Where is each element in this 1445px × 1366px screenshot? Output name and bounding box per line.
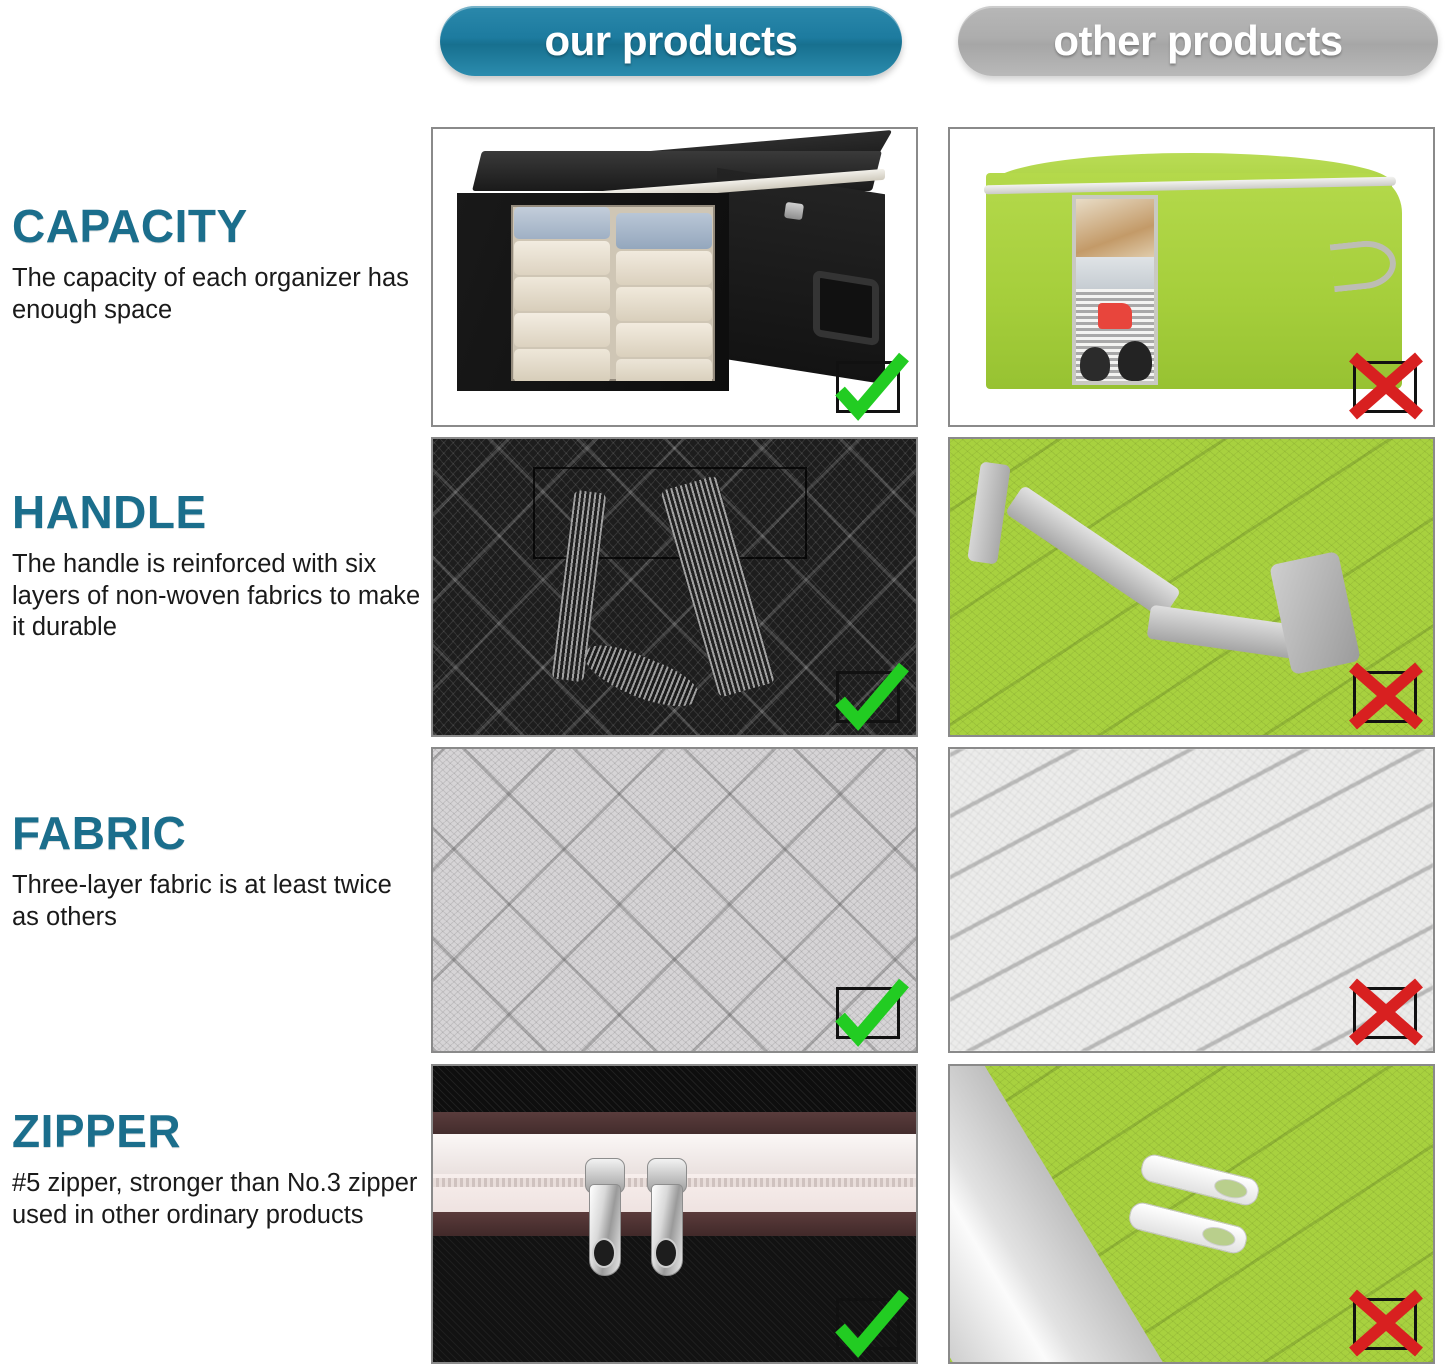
photo-our-fabric: [431, 747, 918, 1053]
feature-text-zipper: ZIPPER #5 zipper, stronger than No.3 zip…: [12, 1108, 422, 1231]
feature-text-handle: HANDLE The handle is reinforced with six…: [12, 489, 422, 644]
feature-description: Three-layer fabric is at least twice as …: [12, 870, 422, 933]
other-products-label: other products: [1053, 17, 1342, 65]
cross-icon: [1349, 665, 1427, 729]
cross-badge: [1349, 665, 1427, 729]
check-badge: [832, 665, 910, 729]
handle-strap: [967, 461, 1011, 564]
zipper-pull: [583, 1158, 625, 1276]
bag-clear-window: [511, 205, 715, 381]
our-products-pill: our products: [440, 6, 902, 76]
photo-other-handle: [948, 437, 1435, 737]
zipper-pull: [645, 1158, 687, 1276]
photo-our-zipper: [431, 1064, 918, 1364]
check-icon: [832, 355, 910, 419]
photo-other-zipper: [948, 1064, 1435, 1364]
our-products-label: our products: [545, 17, 798, 65]
check-icon: [832, 1292, 910, 1356]
check-icon: [832, 981, 910, 1045]
handle-strap-bottom: [578, 636, 704, 718]
photo-our-handle: [431, 437, 918, 737]
feature-title: FABRIC: [12, 810, 422, 856]
cross-badge: [1349, 981, 1427, 1045]
feature-description: The handle is reinforced with six layers…: [12, 549, 422, 644]
cross-badge: [1349, 355, 1427, 419]
feature-title: HANDLE: [12, 489, 422, 535]
check-badge: [832, 1292, 910, 1356]
cross-icon: [1349, 981, 1427, 1045]
check-icon: [832, 665, 910, 729]
feature-description: #5 zipper, stronger than No.3 zipper use…: [12, 1168, 422, 1231]
comparison-header: our products other products: [0, 0, 1445, 88]
other-products-pill: other products: [958, 6, 1438, 76]
check-badge: [832, 981, 910, 1045]
cross-icon: [1349, 355, 1427, 419]
zipper-pull: [1138, 1152, 1261, 1208]
bag-side-handle: [813, 270, 879, 346]
check-badge: [832, 355, 910, 419]
feature-text-fabric: FABRIC Three-layer fabric is at least tw…: [12, 810, 422, 933]
zipper-pull: [1126, 1200, 1249, 1256]
feature-title: ZIPPER: [12, 1108, 422, 1154]
cross-icon: [1349, 1292, 1427, 1356]
cross-badge: [1349, 1292, 1427, 1356]
photo-our-capacity: [431, 127, 918, 427]
handle-strap: [1005, 485, 1182, 619]
photo-other-capacity: [948, 127, 1435, 427]
feature-description: The capacity of each organizer has enoug…: [12, 263, 422, 326]
photo-other-fabric: [948, 747, 1435, 1053]
feature-text-capacity: CAPACITY The capacity of each organizer …: [12, 203, 422, 326]
bag-clear-window: [1072, 195, 1158, 385]
feature-title: CAPACITY: [12, 203, 422, 249]
